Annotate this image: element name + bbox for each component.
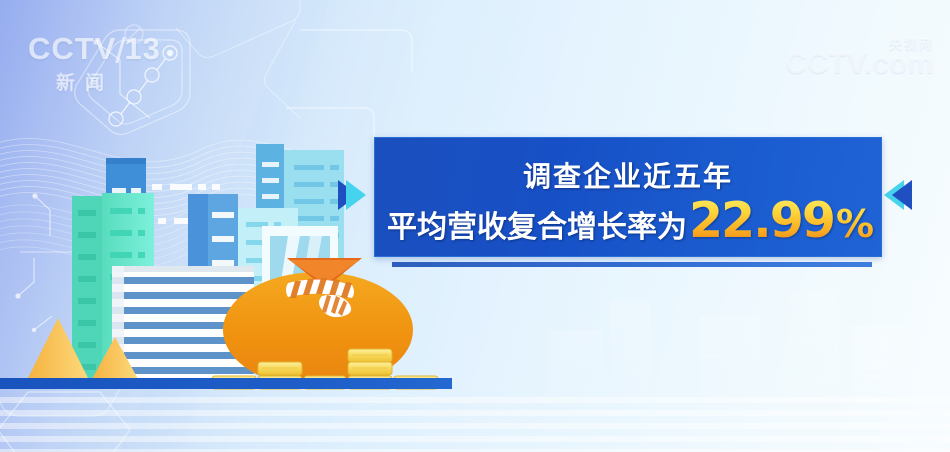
- channel-subtitle: 新闻: [56, 68, 188, 95]
- ground-line: [0, 378, 452, 389]
- floor-stripes: [0, 390, 950, 452]
- cctv-com-watermark: 央视网 CCTV.com: [785, 34, 934, 81]
- banner-underline: [392, 262, 872, 267]
- statistic-value: 22.99: [689, 198, 834, 244]
- channel-number: 13: [124, 32, 160, 66]
- broadcast-graphic: CCTV13 新闻 央视网 CCTV.com 调查企业近五年 平均营收复合增长率…: [0, 0, 950, 452]
- banner-line-2: 平均营收复合增长率为 22.99 %: [385, 198, 875, 247]
- cctv-13-news-logo: CCTV13 新闻: [28, 32, 188, 88]
- banner-line-2-prefix: 平均营收复合增长率为: [387, 202, 687, 246]
- watermark-text: CCTV.com: [785, 47, 934, 80]
- banner-line-1: 调查企业近五年: [375, 155, 881, 195]
- statistic-unit: %: [836, 201, 873, 247]
- banner-background: 调查企业近五年 平均营收复合增长率为 22.99 %: [374, 137, 882, 257]
- right-arrow-outer-icon: [892, 180, 912, 210]
- cctv-wordmark: CCTV: [28, 31, 116, 66]
- left-arrow-inner-icon: [346, 180, 366, 210]
- headline-banner: 调查企业近五年 平均营收复合增长率为 22.99 %: [374, 137, 882, 257]
